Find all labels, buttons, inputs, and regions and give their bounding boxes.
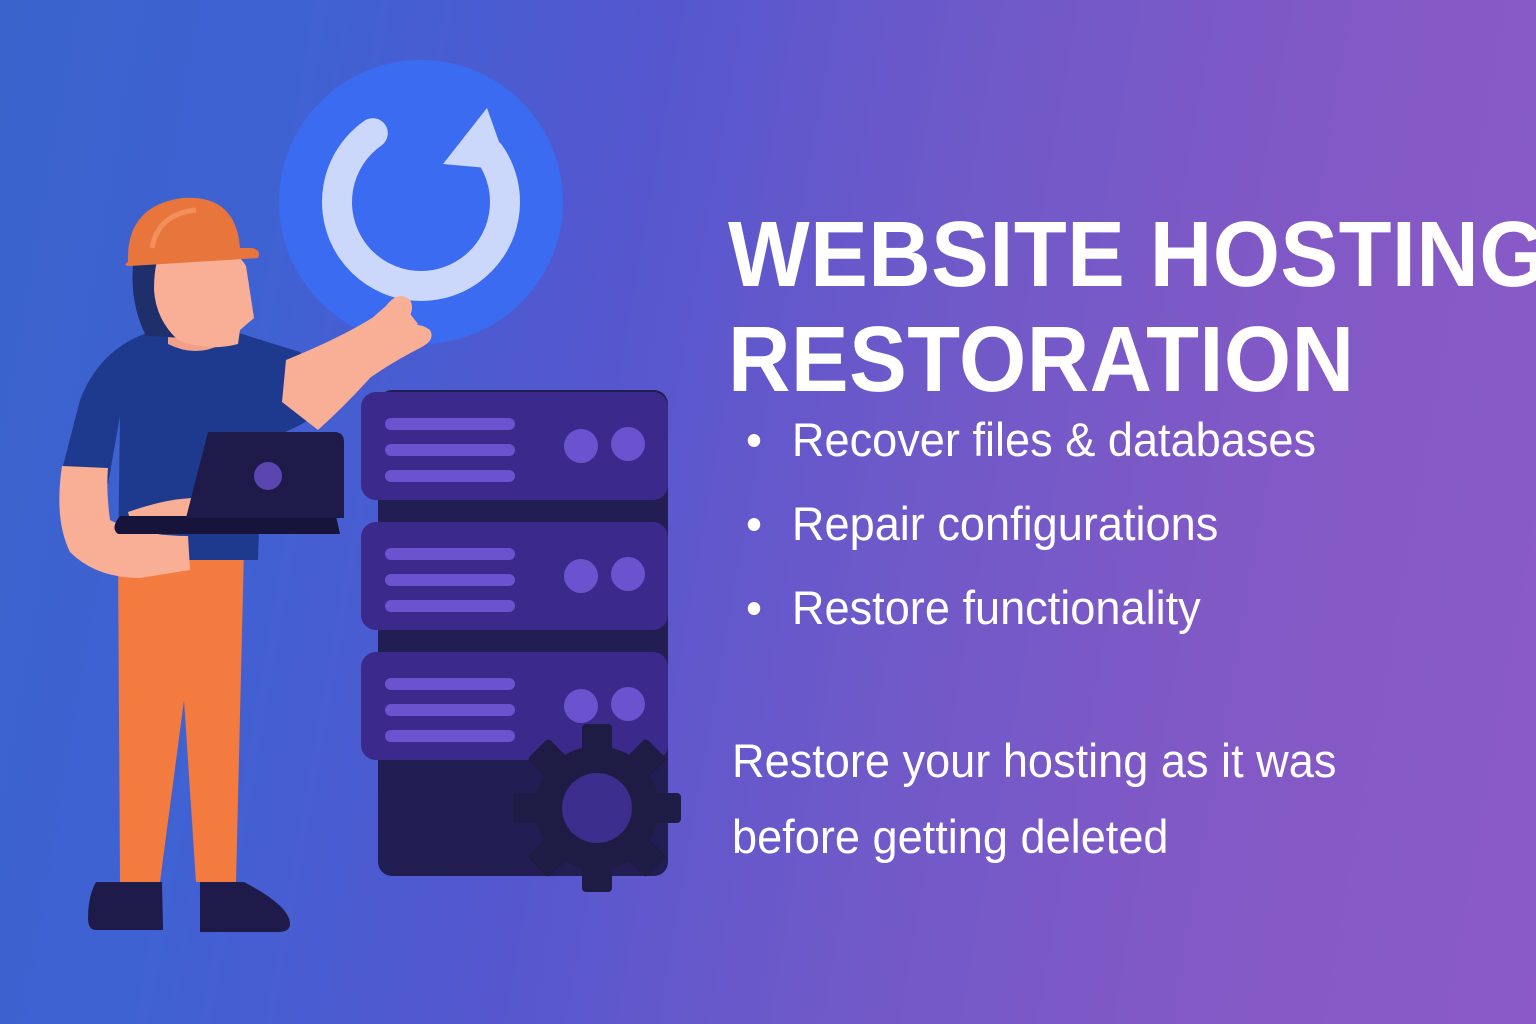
server-bar — [385, 704, 515, 716]
server-led — [611, 427, 645, 461]
hosting-restoration-illustration — [0, 0, 720, 1024]
title-line-1: WEBSITE HOSTING — [728, 202, 1453, 307]
server-unit-3 — [361, 652, 668, 760]
title-line-2: RESTORATION — [728, 307, 1453, 412]
bullet-dot-icon — [748, 518, 760, 531]
tagline-line-2: before getting deleted — [732, 799, 1471, 875]
server-bar — [385, 548, 515, 560]
list-item: Restore functionality — [742, 566, 1472, 650]
refresh-circle — [279, 60, 563, 344]
shoe-right — [200, 882, 290, 932]
server-bar — [385, 444, 515, 456]
list-item: Recover files & databases — [742, 398, 1472, 482]
refresh-badge — [279, 60, 563, 344]
server-bar — [385, 730, 515, 742]
infographic-banner: WEBSITE HOSTING RESTORATION Recover file… — [0, 0, 1536, 1024]
server-led — [564, 689, 598, 723]
feature-list: Recover files & databases Repair configu… — [742, 398, 1502, 650]
list-item: Repair configurations — [742, 482, 1472, 566]
list-item-label: Repair configurations — [792, 497, 1218, 550]
laptop-base — [114, 516, 340, 534]
server-led — [564, 429, 598, 463]
shoe-left — [88, 882, 163, 930]
server-bar — [385, 600, 515, 612]
laptop-logo — [254, 462, 282, 490]
server-bar — [385, 678, 515, 690]
tagline: Restore your hosting as it was before ge… — [732, 723, 1471, 875]
server-bar — [385, 418, 515, 430]
pants — [118, 548, 244, 882]
gear-hub — [562, 773, 632, 843]
server-unit-1 — [361, 392, 668, 500]
server-led — [611, 557, 645, 591]
page-title: WEBSITE HOSTING RESTORATION — [728, 202, 1453, 412]
text-column: WEBSITE HOSTING RESTORATION Recover file… — [728, 0, 1508, 1024]
bullet-dot-icon — [748, 434, 760, 447]
server-bar — [385, 470, 515, 482]
list-item-label: Restore functionality — [792, 581, 1201, 634]
server-unit-2 — [361, 522, 668, 630]
server-led — [564, 559, 598, 593]
gear-icon — [513, 724, 681, 892]
list-item-label: Recover files & databases — [792, 413, 1316, 466]
server-led — [611, 687, 645, 721]
bullet-dot-icon — [748, 602, 760, 615]
tagline-line-1: Restore your hosting as it was — [732, 723, 1471, 799]
server-bar — [385, 574, 515, 586]
